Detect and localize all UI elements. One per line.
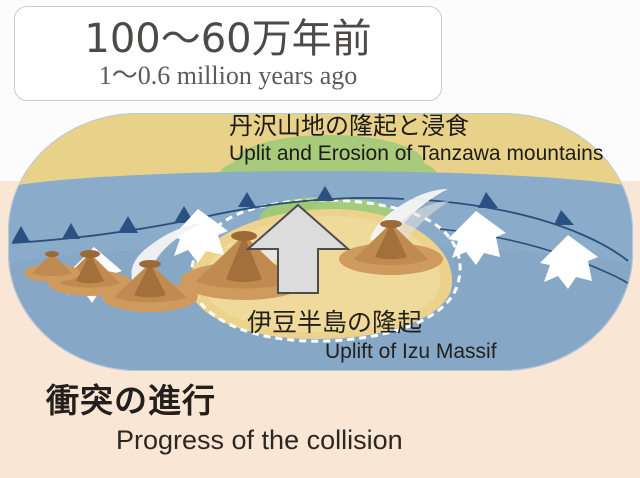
volcano-crater <box>139 260 161 268</box>
trench-tooth <box>12 226 30 242</box>
volcano-crater <box>380 220 402 228</box>
caption-en: Progress of the collision <box>0 424 640 456</box>
volcano-crater <box>80 250 100 258</box>
trench-tooth <box>62 223 80 239</box>
title-japanese: 100〜60万年前 <box>84 17 371 61</box>
izu-label: 伊豆半島の隆起 Uplift of Izu Massif <box>247 308 497 364</box>
trench-tooth <box>238 192 256 207</box>
trench-tooth <box>554 210 574 225</box>
tanzawa-label-en: Uplit and Erosion of Tanzawa mountains <box>229 141 603 166</box>
trench-tooth <box>478 192 498 208</box>
figure-canvas: 100〜60万年前 1〜0.6 million years ago <box>0 0 640 478</box>
izu-label-jp: 伊豆半島の隆起 <box>247 308 497 337</box>
volcano-crater <box>45 251 59 257</box>
izu-label-en: Uplift of Izu Massif <box>247 339 497 364</box>
title-card: 100〜60万年前 1〜0.6 million years ago <box>14 6 442 101</box>
volcano-group <box>24 220 443 312</box>
title-english: 1〜0.6 million years ago <box>99 62 358 90</box>
tanzawa-label: 丹沢山地の隆起と浸食 Uplit and Erosion of Tanzawa … <box>229 113 603 166</box>
figure-caption: 衝突の進行 Progress of the collision <box>0 382 640 456</box>
volcano-crater <box>231 231 257 241</box>
caption-jp: 衝突の進行 <box>0 382 640 420</box>
trench-tooth <box>118 216 138 233</box>
trench-tooth <box>316 186 334 201</box>
plate-motion-arrow-right <box>540 235 598 289</box>
tanzawa-label-jp: 丹沢山地の隆起と浸食 <box>229 113 603 140</box>
